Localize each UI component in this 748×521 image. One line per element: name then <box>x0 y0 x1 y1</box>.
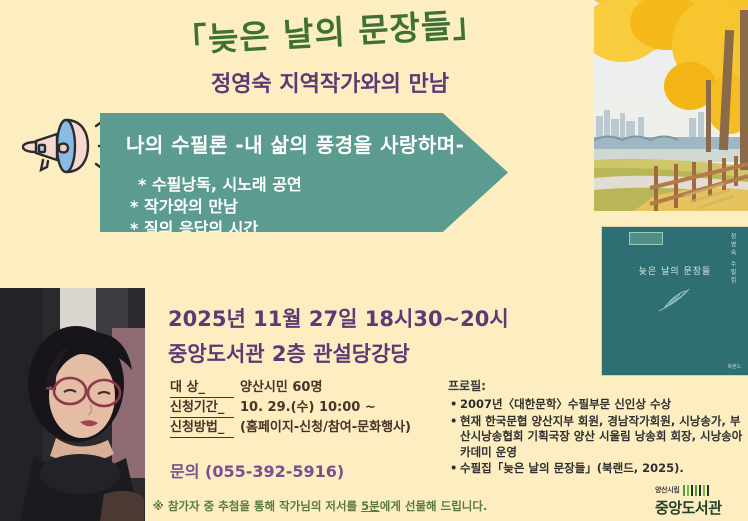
library-logo: 양산시립 중앙도서관 <box>655 484 747 518</box>
book-title-label: 늦은 날의 문장들 <box>602 264 748 277</box>
profile-heading: 프로필: <box>448 377 744 394</box>
banner-item: * 질의 응답의 시간 <box>130 218 302 240</box>
event-datetime: 2025년 11월 27일 18시30~20시 <box>168 303 509 333</box>
profile-item: 2007년〈대한문학〉수필부문 신인상 수상 <box>460 397 744 413</box>
author-portrait-photo <box>0 288 145 521</box>
autumn-ginkgo-photo <box>594 0 748 211</box>
contact-phone: 문의 (055-392-5916) <box>170 458 344 482</box>
book-author-label: 정영숙 수필집 <box>728 233 737 285</box>
page-subtitle: 정영숙 지역작가와의 만남 <box>120 66 540 98</box>
event-venue: 중앙도서관 2층 관설당강당 <box>168 338 410 368</box>
detail-row-target: 대 상_양산시민 60명 <box>170 378 430 398</box>
footnote-prefix: ※ 참가자 중 추첨을 통해 작가님의 저서를 <box>153 499 361 513</box>
detail-row-period: 신청기간_10. 29.(수) 10:00 ~ <box>170 398 430 418</box>
profile-item-list: 2007년〈대한문학〉수필부문 신인상 수상 현재 한국문협 양산지부 회원, … <box>448 397 744 477</box>
profile-item: 수필집「늦은 날의 문장들」(북랜드, 2025). <box>460 461 744 477</box>
feather-icon <box>655 285 695 315</box>
detail-value: 양산시민 60명 <box>234 380 322 395</box>
poster-canvas: 「늦은 날의 문장들」 정영숙 지역작가와의 만남 나의 수필론 -내 삶의 풍… <box>0 0 748 521</box>
giveaway-footnote: ※ 참가자 중 추첨을 통해 작가님의 저서를 5분에게 선물해 드립니다. <box>0 498 640 514</box>
profile-item: 현재 한국문협 양산지부 회원, 경남작가회원, 시낭송가, 부산시낭송협회 기… <box>460 414 744 461</box>
detail-label: 신청기간_ <box>170 398 234 418</box>
megaphone-icon <box>8 104 112 190</box>
detail-label: 대 상_ <box>170 378 234 398</box>
footnote-underlined: 5분 <box>361 499 380 513</box>
detail-value: (홈페이지-신청/참여-문화행사) <box>234 420 411 435</box>
banner-item-list: * 수필낭독, 시노래 공연 * 작가와의 만남 * 질의 응답의 시간 <box>130 174 302 240</box>
logo-city-label: 양산시립 <box>655 485 680 495</box>
logo-library-name: 중앙도서관 <box>655 497 747 518</box>
event-details: 대 상_양산시민 60명 신청기간_10. 29.(수) 10:00 ~ 신청방… <box>170 378 430 438</box>
detail-value: 10. 29.(수) 10:00 ~ <box>234 400 376 415</box>
banner-heading: 나의 수필론 -내 삶의 풍경을 사랑하며- <box>126 129 464 158</box>
logo-top-row: 양산시립 <box>655 484 747 496</box>
banner-item: * 작가와의 만남 <box>130 196 302 218</box>
book-publisher-label: 북랜드 <box>727 363 741 370</box>
banner-item: * 수필낭독, 시노래 공연 <box>130 174 302 196</box>
page-title: 「늦은 날의 문장들」 <box>119 0 541 66</box>
book-stamp <box>629 232 663 245</box>
book-cover-image: 정영숙 수필집 늦은 날의 문장들 북랜드 <box>602 227 748 375</box>
title-area: 「늦은 날의 문장들」 <box>120 6 540 68</box>
detail-label: 신청방법_ <box>170 418 234 438</box>
detail-row-method: 신청방법_(홈페이지-신청/참여-문화행사) <box>170 418 430 438</box>
author-profile: 프로필: 2007년〈대한문학〉수필부문 신인상 수상 현재 한국문협 양산지부… <box>448 377 744 478</box>
logo-bars-icon <box>683 484 710 496</box>
program-banner: 나의 수필론 -내 삶의 풍경을 사랑하며- * 수필낭독, 시노래 공연 * … <box>100 113 508 232</box>
footnote-suffix: 에게 선물해 드립니다. <box>380 499 488 513</box>
